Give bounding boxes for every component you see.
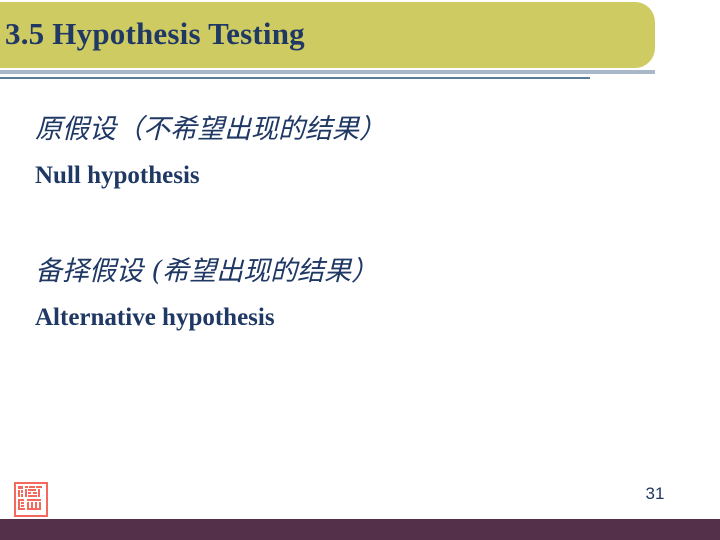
content-block-alternative-hypothesis: 备择假设 (希望出现的结果） Alternative hypothesis [35, 250, 675, 338]
header-rule-thick [0, 70, 655, 74]
english-line-null-hypothesis: Null hypothesis [35, 156, 675, 196]
header-rule-thin [0, 77, 590, 79]
page-title: 3.5 Hypothesis Testing [5, 14, 645, 54]
body-content: 原假设（不希望出现的结果） Null hypothesis 备择假设 (希望出现… [35, 108, 675, 338]
page-number: 31 [620, 484, 690, 504]
slide: 3.5 Hypothesis Testing 原假设（不希望出现的结果） Nul… [0, 0, 720, 540]
english-line-alternative-hypothesis: Alternative hypothesis [35, 298, 675, 338]
footer-bar [0, 519, 720, 540]
red-seal-stamp-icon [14, 482, 48, 517]
content-block-null-hypothesis: 原假设（不希望出现的结果） Null hypothesis [35, 108, 675, 196]
chinese-line-null-hypothesis: 原假设（不希望出现的结果） [35, 108, 675, 152]
chinese-line-alternative-hypothesis: 备择假设 (希望出现的结果） [35, 250, 675, 294]
